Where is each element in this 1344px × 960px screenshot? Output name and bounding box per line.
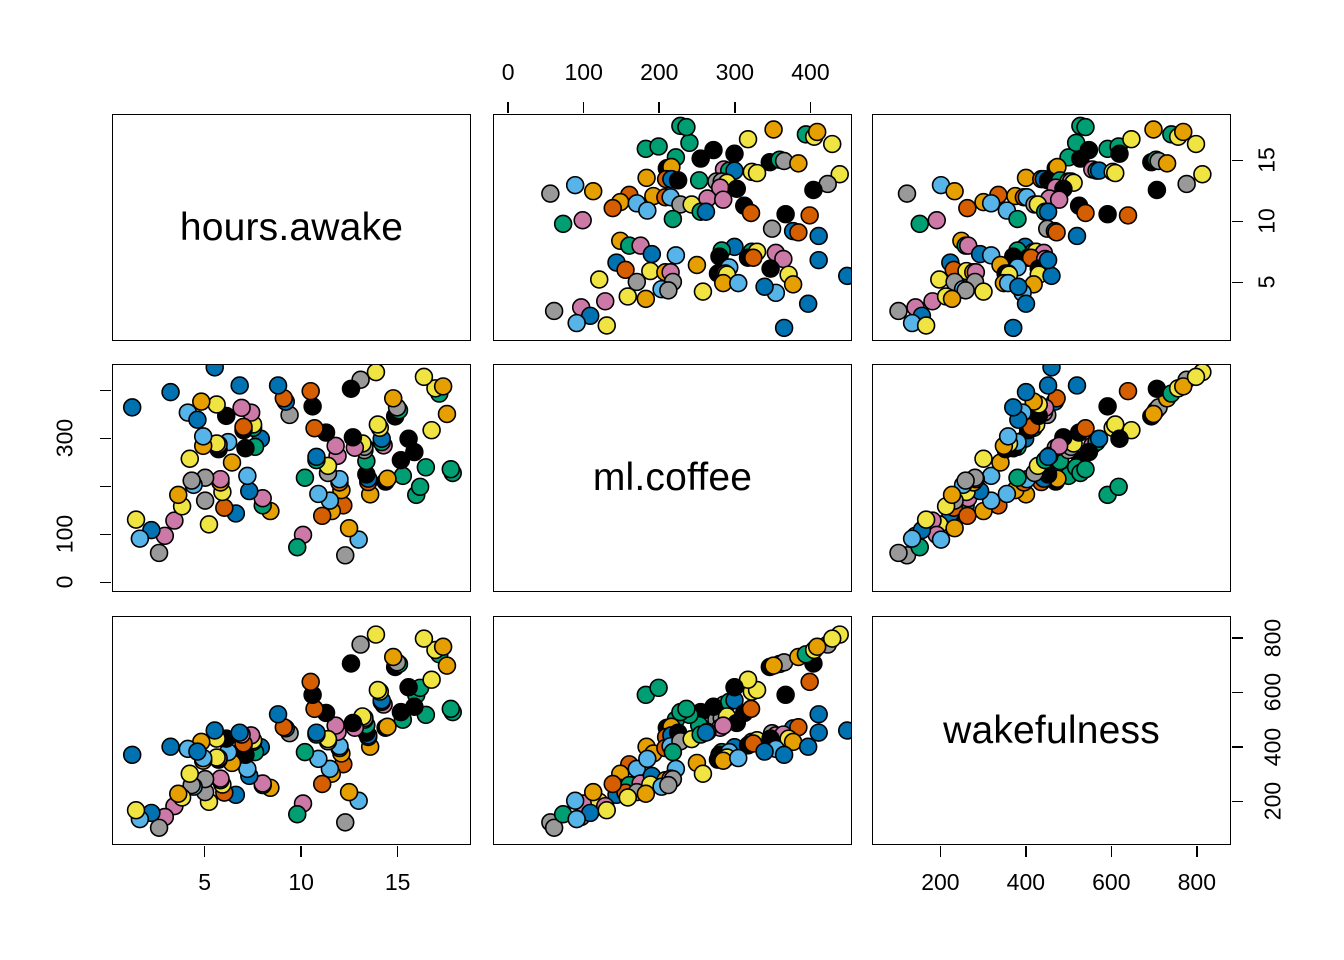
data-point: [639, 750, 656, 767]
data-point: [785, 276, 802, 293]
panel-mlcoffee-vs-hoursawake: [493, 114, 852, 341]
data-point: [790, 224, 807, 241]
data-point: [801, 673, 818, 690]
data-point: [128, 511, 145, 528]
axis-tick-mark: [100, 486, 111, 488]
data-point: [801, 207, 818, 224]
data-point: [341, 784, 358, 801]
tick-label-mlcoffee-left: 300: [52, 419, 79, 457]
data-point: [337, 547, 354, 564]
axis-tick-mark: [1232, 692, 1243, 694]
data-point: [1048, 224, 1065, 241]
data-point: [162, 384, 179, 401]
data-point: [745, 249, 762, 266]
axis-tick-mark: [1232, 746, 1243, 748]
data-point: [726, 679, 743, 696]
data-point: [743, 205, 760, 222]
data-point: [946, 183, 963, 200]
data-point: [1000, 428, 1017, 445]
data-point: [678, 119, 695, 136]
data-point: [1120, 383, 1137, 400]
data-point: [289, 806, 306, 823]
data-point: [944, 290, 961, 307]
data-point: [697, 724, 714, 741]
data-point: [369, 416, 386, 433]
axis-tick-mark: [658, 102, 660, 113]
data-point: [959, 507, 976, 524]
axis-tick-mark: [810, 102, 812, 113]
data-point: [344, 429, 361, 446]
data-point: [341, 520, 358, 537]
data-point: [542, 185, 559, 202]
data-point: [1145, 121, 1162, 138]
data-point: [638, 169, 655, 186]
data-point: [839, 267, 851, 284]
data-point: [1040, 252, 1057, 269]
data-point: [637, 290, 654, 307]
data-point: [805, 182, 822, 199]
data-point: [730, 275, 747, 292]
scatter-points-r2c1: [494, 617, 851, 844]
data-point: [975, 450, 992, 467]
data-point: [302, 673, 319, 690]
tick-label-wakefulness-bottom: 800: [1178, 869, 1216, 896]
data-point: [1043, 267, 1060, 284]
data-point: [1009, 469, 1026, 486]
data-point: [1111, 145, 1128, 162]
data-point: [308, 724, 325, 741]
data-point: [423, 671, 440, 688]
tick-label-wakefulness-right: 200: [1260, 782, 1287, 820]
data-point: [1010, 278, 1027, 295]
data-point: [1178, 176, 1195, 193]
tick-label-mlcoffee-top: 0: [502, 59, 515, 86]
scatter-points-r0c2: [873, 115, 1230, 340]
data-point: [400, 679, 417, 696]
data-point: [637, 785, 654, 802]
data-point: [367, 626, 384, 643]
data-point: [957, 472, 974, 489]
data-point: [946, 520, 963, 537]
data-point: [1110, 478, 1127, 495]
data-point: [1194, 166, 1211, 183]
axis-tick-mark: [1111, 846, 1113, 857]
data-point: [237, 440, 254, 457]
data-point: [643, 246, 660, 263]
data-point: [423, 422, 440, 439]
data-point: [639, 202, 656, 219]
data-point: [1005, 399, 1022, 416]
data-point: [800, 738, 817, 755]
data-point: [619, 789, 636, 806]
data-point: [369, 682, 386, 699]
tick-label-hoursawake-right: 15: [1254, 148, 1281, 174]
data-point: [918, 511, 935, 528]
data-point: [694, 283, 711, 300]
data-point: [1077, 119, 1094, 136]
data-point: [310, 486, 327, 503]
data-point: [170, 486, 187, 503]
scatter-points-r2c0: [113, 617, 470, 844]
data-point: [776, 319, 793, 336]
tick-label-hoursawake-bottom: 15: [385, 869, 411, 896]
data-point: [824, 136, 841, 153]
data-point: [678, 700, 695, 717]
data-point: [343, 380, 360, 397]
data-point: [810, 706, 827, 723]
data-point: [756, 743, 773, 760]
tick-label-hoursawake-bottom: 10: [288, 869, 314, 896]
data-point: [197, 492, 214, 509]
data-point: [899, 185, 916, 202]
panel-diagonal-ml-coffee: ml.coffee: [493, 364, 852, 592]
tick-label-mlcoffee-top: 300: [716, 59, 754, 86]
data-point: [691, 172, 708, 189]
data-point: [688, 257, 705, 274]
data-point: [352, 636, 369, 653]
data-point: [415, 630, 432, 647]
axis-tick-mark: [583, 102, 585, 113]
axis-tick-mark: [734, 102, 736, 113]
tick-label-mlcoffee-left: 100: [52, 515, 79, 553]
panel-wakefulness-vs-mlcoffee: [872, 364, 1231, 592]
data-point: [189, 411, 206, 428]
diagonal-label-ml-coffee: ml.coffee: [494, 365, 851, 591]
data-point: [442, 700, 459, 717]
data-point: [385, 390, 402, 407]
data-point: [337, 814, 354, 831]
tick-label-wakefulness-right: 800: [1260, 619, 1287, 657]
data-point: [681, 134, 698, 151]
data-point: [181, 450, 198, 467]
data-point: [1120, 207, 1137, 224]
data-point: [933, 531, 950, 548]
scatter-points-r1c2: [873, 365, 1230, 591]
data-point: [715, 752, 732, 769]
data-point: [800, 295, 817, 312]
data-point: [400, 430, 417, 447]
data-point: [406, 698, 423, 715]
data-point: [670, 172, 687, 189]
data-point: [598, 317, 615, 334]
data-point: [928, 212, 945, 229]
data-point: [344, 715, 361, 732]
data-point: [1009, 211, 1026, 228]
data-point: [776, 746, 793, 763]
data-point: [810, 252, 827, 269]
data-point: [289, 539, 306, 556]
axis-tick-mark: [1025, 846, 1027, 857]
data-point: [765, 121, 782, 138]
data-point: [568, 315, 585, 332]
data-point: [201, 516, 218, 533]
data-point: [270, 377, 287, 394]
tick-label-hoursawake-bottom: 5: [198, 869, 211, 896]
data-point: [694, 765, 711, 782]
panel-wakefulness-vs-hoursawake: [872, 114, 1231, 341]
data-point: [306, 420, 323, 437]
data-point: [1107, 165, 1124, 182]
data-point: [1077, 420, 1094, 437]
data-point: [810, 724, 827, 741]
data-point: [1188, 136, 1205, 153]
data-point: [1188, 368, 1205, 385]
data-point: [604, 200, 621, 217]
data-point: [1145, 406, 1162, 423]
data-point: [931, 271, 948, 288]
data-point: [740, 131, 757, 148]
data-point: [904, 530, 921, 547]
data-point: [379, 718, 396, 735]
data-point: [650, 138, 667, 155]
data-point: [239, 467, 256, 484]
diagonal-label-wakefulness: wakefulness: [873, 617, 1230, 844]
tick-label-wakefulness-right: 400: [1260, 728, 1287, 766]
data-point: [809, 124, 826, 141]
data-point: [1080, 142, 1097, 159]
axis-tick-mark: [1232, 801, 1243, 803]
data-point: [1040, 448, 1057, 465]
data-point: [1043, 365, 1060, 376]
data-point: [212, 770, 229, 787]
data-point: [777, 206, 794, 223]
data-point: [911, 215, 928, 232]
data-point: [975, 283, 992, 300]
data-point: [944, 486, 961, 503]
data-point: [170, 785, 187, 802]
data-point: [1159, 155, 1176, 172]
data-point: [314, 776, 331, 793]
data-point: [415, 368, 432, 385]
data-point: [1080, 444, 1097, 461]
data-point: [1040, 203, 1057, 220]
data-point: [183, 472, 200, 489]
data-point: [604, 776, 621, 793]
data-point: [568, 811, 585, 828]
data-point: [597, 293, 614, 310]
scatter-points-r0c1: [494, 115, 851, 340]
data-point: [1018, 169, 1035, 186]
axis-tick-mark: [1232, 160, 1243, 162]
data-point: [765, 657, 782, 674]
data-point: [308, 448, 325, 465]
data-point: [555, 215, 572, 232]
panel-diagonal-wakefulness: wakefulness: [872, 616, 1231, 845]
axis-tick-mark: [100, 534, 111, 536]
data-point: [824, 630, 841, 647]
data-point: [296, 744, 313, 761]
data-point: [367, 365, 384, 381]
data-point: [619, 288, 636, 305]
data-point: [749, 165, 766, 182]
axis-tick-mark: [300, 846, 302, 857]
data-point: [664, 211, 681, 228]
data-point: [1040, 377, 1057, 394]
data-point: [212, 471, 229, 488]
panel-mlcoffee-vs-wakefulness: [493, 616, 852, 845]
data-point: [379, 470, 396, 487]
data-point: [650, 679, 667, 696]
data-point: [162, 738, 179, 755]
data-point: [959, 200, 976, 217]
tick-label-hoursawake-right: 10: [1254, 209, 1281, 235]
data-point: [660, 777, 677, 794]
axis-tick-mark: [940, 846, 942, 857]
axis-tick-mark: [1232, 282, 1243, 284]
data-point: [417, 459, 434, 476]
data-point: [195, 428, 212, 445]
axis-tick-mark: [397, 846, 399, 857]
scatter-points-r1c0: [113, 365, 470, 591]
axis-tick-mark: [100, 438, 111, 440]
axis-tick-mark: [1196, 846, 1198, 857]
data-point: [715, 191, 732, 208]
data-point: [705, 142, 722, 159]
data-point: [1018, 295, 1035, 312]
data-point: [1069, 377, 1086, 394]
data-point: [1111, 430, 1128, 447]
data-point: [660, 282, 677, 299]
data-point: [206, 722, 223, 739]
axis-tick-mark: [100, 582, 111, 584]
data-point: [918, 317, 935, 334]
data-point: [233, 399, 250, 416]
axis-tick-mark: [1232, 637, 1243, 639]
tick-label-mlcoffee-left: 0: [52, 576, 79, 589]
data-point: [664, 744, 681, 761]
tick-label-wakefulness-bottom: 200: [921, 869, 959, 896]
data-point: [810, 228, 827, 245]
data-point: [270, 706, 287, 723]
data-point: [998, 486, 1015, 503]
data-point: [314, 507, 331, 524]
data-point: [567, 792, 584, 809]
data-point: [756, 278, 773, 295]
data-point: [1005, 319, 1022, 336]
data-point: [231, 724, 248, 741]
data-point: [343, 655, 360, 672]
data-point: [567, 177, 584, 194]
data-point: [743, 700, 760, 717]
data-point: [435, 638, 452, 655]
data-point: [1069, 228, 1086, 245]
data-point: [764, 220, 781, 237]
data-point: [304, 398, 321, 415]
data-point: [124, 399, 141, 416]
data-point: [439, 406, 456, 423]
data-point: [394, 467, 411, 484]
tick-label-mlcoffee-top: 100: [565, 59, 603, 86]
panel-hoursawake-vs-wakefulness: [112, 616, 471, 845]
data-point: [1099, 206, 1116, 223]
tick-label-mlcoffee-top: 400: [791, 59, 829, 86]
data-point: [574, 212, 591, 229]
tick-label-wakefulness-bottom: 600: [1092, 869, 1130, 896]
data-point: [585, 183, 602, 200]
data-point: [667, 247, 684, 264]
data-point: [216, 499, 233, 516]
data-point: [1018, 384, 1035, 401]
data-point: [591, 271, 608, 288]
data-point: [546, 303, 563, 320]
data-point: [151, 545, 168, 562]
tick-label-hoursawake-right: 5: [1254, 276, 1281, 289]
data-point: [189, 743, 206, 760]
data-point: [296, 469, 313, 486]
data-point: [235, 418, 252, 435]
data-point: [208, 396, 225, 413]
axis-tick-mark: [1232, 221, 1243, 223]
data-point: [1077, 461, 1094, 478]
axis-tick-mark: [100, 390, 111, 392]
data-point: [777, 686, 794, 703]
data-point: [1077, 205, 1094, 222]
data-point: [231, 377, 248, 394]
data-point: [302, 383, 319, 400]
data-point: [715, 717, 732, 734]
data-point: [1099, 398, 1116, 415]
data-point: [726, 145, 743, 162]
data-point: [385, 649, 402, 666]
data-point: [241, 483, 258, 500]
data-point: [598, 802, 615, 819]
panel-diagonal-hours-awake: hours.awake: [112, 114, 471, 341]
data-point: [181, 765, 198, 782]
data-point: [983, 195, 1000, 212]
axis-tick-mark: [204, 846, 206, 857]
data-point: [762, 260, 779, 277]
diagonal-label-hours-awake: hours.awake: [113, 115, 470, 340]
tick-label-wakefulness-right: 600: [1260, 673, 1287, 711]
data-point: [890, 303, 907, 320]
data-point: [435, 378, 452, 395]
data-point: [412, 478, 429, 495]
data-point: [224, 454, 241, 471]
data-point: [124, 746, 141, 763]
data-point: [697, 203, 714, 220]
data-point: [809, 638, 826, 655]
data-point: [890, 545, 907, 562]
data-point: [585, 784, 602, 801]
data-point: [128, 802, 145, 819]
data-point: [839, 722, 851, 739]
axis-tick-mark: [507, 102, 509, 113]
data-point: [206, 365, 223, 376]
tick-label-wakefulness-bottom: 400: [1007, 869, 1045, 896]
data-point: [1148, 182, 1165, 199]
tick-label-mlcoffee-top: 200: [640, 59, 678, 86]
scatterplot-matrix: hours.awake ml.coffee wakefulness 010020…: [0, 0, 1344, 960]
data-point: [790, 155, 807, 172]
panel-hoursawake-vs-mlcoffee: [112, 364, 471, 592]
data-point: [1123, 131, 1140, 148]
data-point: [705, 698, 722, 715]
data-point: [730, 750, 747, 767]
data-point: [439, 657, 456, 674]
data-point: [131, 530, 148, 547]
data-point: [442, 461, 459, 478]
